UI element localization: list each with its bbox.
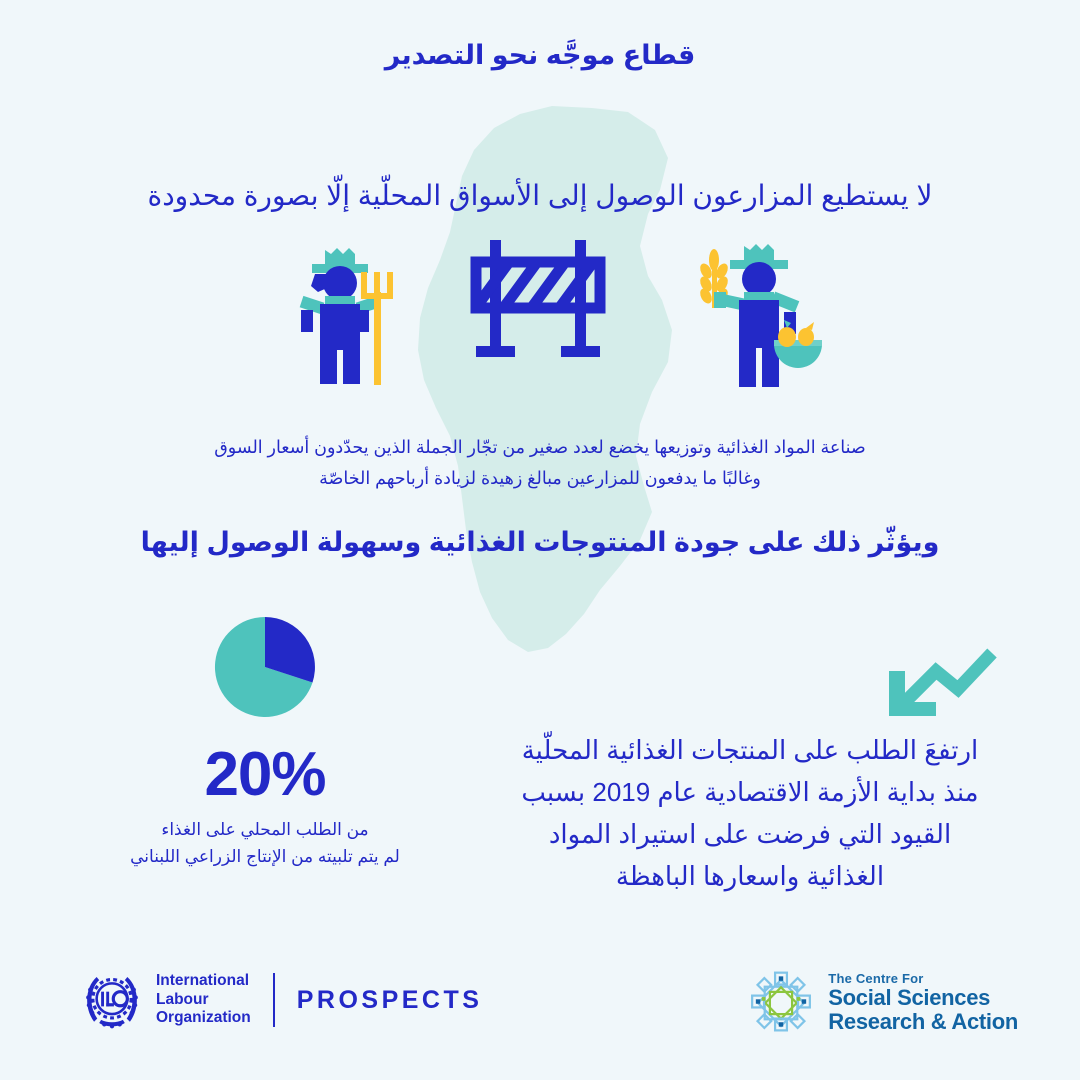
cssra-wordmark-line-2: Social Sciences [828, 986, 1018, 1010]
statistic-caption-line-1: من الطلب المحلي على الغذاء [100, 816, 430, 843]
cssra-star-emblem-icon [744, 966, 818, 1040]
cssra-wordmark-line-3: Research & Action [828, 1010, 1018, 1034]
trend-block: ارتفعَ الطلب على المنتجات الغذائية المحل… [490, 645, 1010, 897]
farmer-with-wheat-and-basket-figure [688, 240, 828, 395]
trend-paragraph-line-1: ارتفعَ الطلب على المنتجات الغذائية المحل… [490, 729, 1010, 771]
ilo-emblem-icon [80, 968, 144, 1032]
trend-paragraph: ارتفعَ الطلب على المنتجات الغذائية المحل… [490, 729, 1010, 897]
pie-chart [210, 612, 320, 722]
footer: International Labour Organization PROSPE… [0, 950, 1080, 1080]
ilo-prospects-logo-group: International Labour Organization PROSPE… [80, 968, 482, 1032]
ilo-wordmark-line-2: Labour [156, 991, 251, 1010]
body-paragraph-line-2: وغالبًا ما يدفعون للمزارعين مبالغ زهيدة … [120, 463, 960, 494]
statistic-block: 20% من الطلب المحلي على الغذاء لم يتم تل… [100, 612, 430, 870]
lead-statement: لا يستطيع المزارعون الوصول إلى الأسواق ا… [60, 176, 1020, 217]
trend-paragraph-line-4: الغذائية واسعارها الباهظة [490, 855, 1010, 897]
trend-paragraph-line-2: منذ بداية الأزمة الاقتصادية عام 2019 بسب… [490, 771, 1010, 813]
cssra-wordmark-line-1: The Centre For [828, 972, 1018, 986]
infographic-canvas: قطاع موجَّه نحو التصدير لا يستطيع المزار… [0, 0, 1080, 1080]
body-paragraph-line-1: صناعة المواد الغذائية وتوزيعها يخضع لعدد… [120, 432, 960, 463]
statistic-value: 20% [100, 744, 430, 806]
ilo-wordmark-line-1: International [156, 972, 251, 991]
statistic-caption-line-2: لم يتم تلبيته من الإنتاج الزراعي اللبنان… [100, 843, 430, 870]
page-title: قطاع موجَّه نحو التصدير [0, 40, 1080, 71]
ilo-wordmark: International Labour Organization [156, 972, 251, 1029]
farmer-with-pitchfork-figure [285, 240, 415, 390]
trend-paragraph-line-3: القيود التي فرضت على استيراد المواد [490, 813, 1010, 855]
body-paragraph: صناعة المواد الغذائية وتوزيعها يخضع لعدد… [120, 432, 960, 493]
impact-statement: ويؤثّر ذلك على جودة المنتوجات الغذائية و… [60, 524, 1020, 562]
cssra-logo-group: The Centre For Social Sciences Research … [744, 966, 1018, 1040]
cssra-wordmark: The Centre For Social Sciences Research … [828, 972, 1018, 1035]
trend-down-arrow-icon [880, 645, 1000, 717]
road-barrier-figure [468, 240, 608, 370]
logo-divider [273, 973, 275, 1027]
statistic-caption: من الطلب المحلي على الغذاء لم يتم تلبيته… [100, 816, 430, 870]
ilo-wordmark-line-3: Organization [156, 1009, 251, 1028]
illustration-row [0, 240, 1080, 400]
prospects-wordmark: PROSPECTS [297, 986, 483, 1015]
